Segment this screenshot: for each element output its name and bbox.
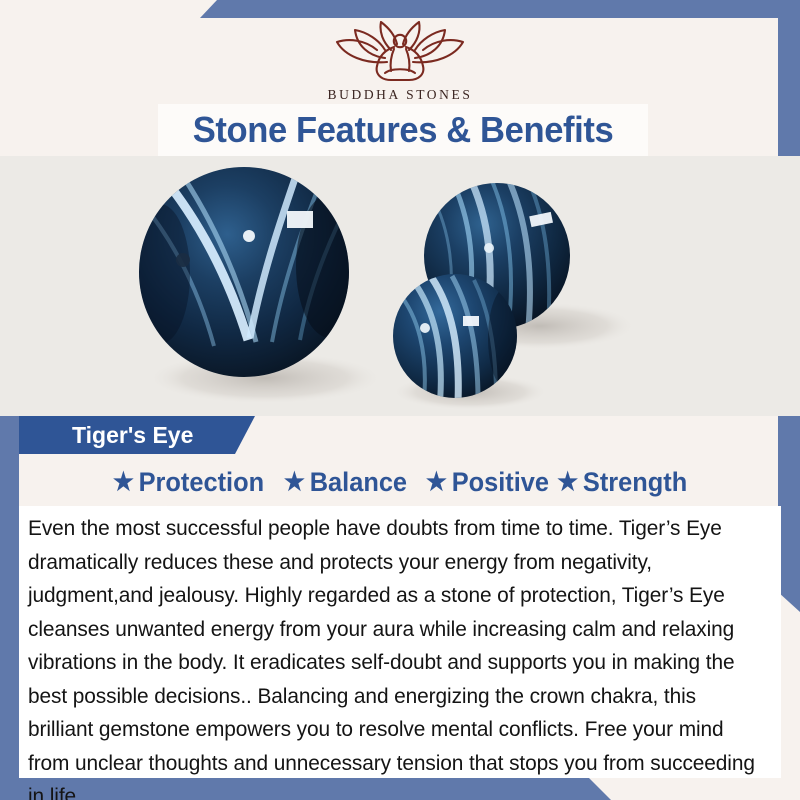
- star-icon: ★: [426, 470, 447, 495]
- star-icon: ★: [557, 470, 578, 495]
- benefit-label: Strength: [583, 467, 687, 498]
- stone-description-block: Even the most successful people have dou…: [19, 506, 781, 778]
- stone-description: Even the most successful people have dou…: [28, 512, 762, 800]
- lotus-meditation-icon: [325, 16, 475, 86]
- benefit-label: Positive: [452, 467, 549, 498]
- stone-name: Tiger's Eye: [19, 422, 193, 449]
- page-title: Stone Features & Benefits: [193, 109, 614, 151]
- poster-root: BUDDHA STONES Stone Features & Benefits: [0, 0, 800, 800]
- benefit-item-balance: ★ Balance: [284, 467, 407, 498]
- star-icon: ★: [284, 470, 305, 495]
- brand-name: BUDDHA STONES: [285, 87, 515, 103]
- benefit-item-strength: ★ Strength: [557, 467, 687, 498]
- benefits-row: ★ Protection ★ Balance ★ Positive ★ Stre…: [19, 460, 781, 504]
- brand-header: BUDDHA STONES: [0, 0, 800, 105]
- benefit-item-protection: ★ Protection: [113, 467, 264, 498]
- benefit-label: Protection: [139, 467, 265, 498]
- brand-logo: BUDDHA STONES: [285, 16, 515, 103]
- benefit-label: Balance: [310, 467, 407, 498]
- benefit-item-positive: ★ Positive: [426, 467, 549, 498]
- stone-photo-illustration: [0, 156, 800, 416]
- page-title-band: Stone Features & Benefits: [158, 104, 648, 156]
- star-icon: ★: [113, 470, 134, 495]
- stone-photo: [0, 156, 800, 416]
- stone-name-banner: Tiger's Eye: [19, 416, 255, 454]
